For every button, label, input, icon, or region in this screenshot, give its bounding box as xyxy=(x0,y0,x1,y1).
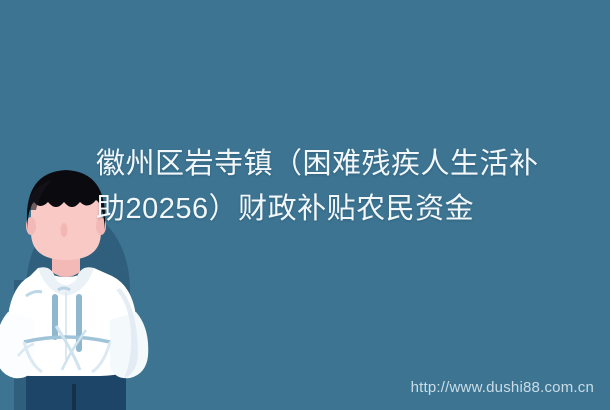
left-drawstring xyxy=(52,294,58,340)
nose-shape xyxy=(61,223,68,237)
page-title-line-1: 徽州区岩寺镇（困难残疾人生活补 xyxy=(96,142,576,187)
page-title-line-2: 助20256）财政补贴农民资金 xyxy=(96,187,576,232)
page-title: 徽州区岩寺镇（困难残疾人生活补 助20256）财政补贴农民资金 xyxy=(96,142,576,232)
article-thumbnail-banner: 徽州区岩寺镇（困难残疾人生活补 助20256）财政补贴农民资金 http://w… xyxy=(0,0,610,410)
site-url-watermark: http://www.dushi88.com.cn xyxy=(411,379,594,396)
